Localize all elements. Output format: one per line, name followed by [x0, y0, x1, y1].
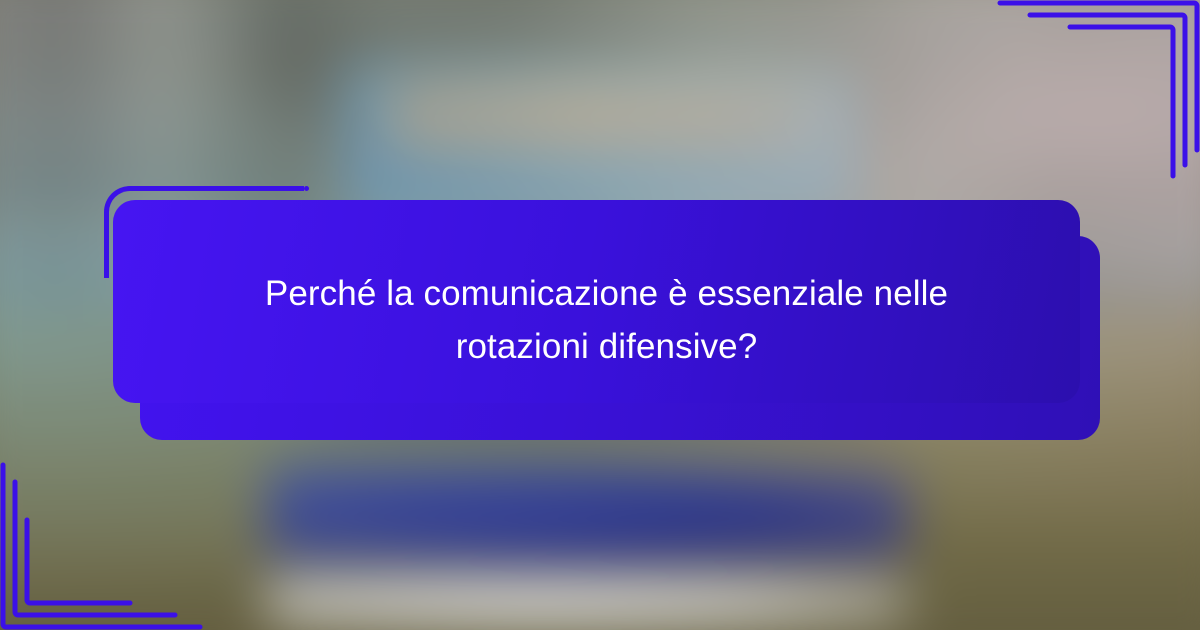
quote-card-banner: Perché la comunicazione è essenziale nel… [0, 0, 1200, 630]
page-title: Perché la comunicazione è essenziale nel… [227, 267, 987, 373]
quote-card-text-area: Perché la comunicazione è essenziale nel… [113, 200, 1100, 440]
